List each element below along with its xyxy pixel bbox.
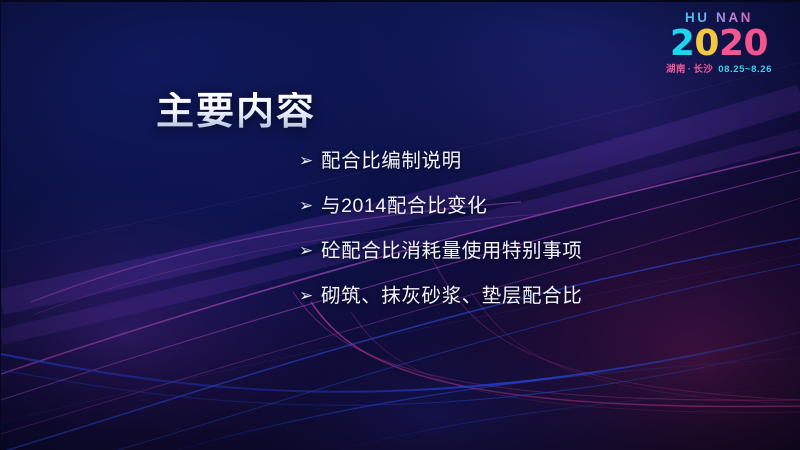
logo-city: 长沙 — [693, 64, 713, 75]
logo-year-digit-1: 2 — [670, 27, 695, 61]
presentation-slide: HU NAN 2020 湖南·长沙08.25~8.26 主要内容 ➢ 配合比编制… — [0, 0, 800, 450]
logo-dates: 08.25~8.26 — [718, 64, 772, 75]
page-title: 主要内容 — [156, 92, 316, 134]
logo-year: 2020 — [666, 27, 772, 61]
list-item-label: 砌筑、抹灰砂浆、垫层配合比 — [321, 279, 582, 308]
list-item: ➢ 砼配合比消耗量使用特别事项 — [299, 234, 739, 279]
list-item-label: 与2014配合比变化 — [321, 189, 487, 218]
logo-separator: · — [688, 64, 692, 75]
list-item: ➢ 砌筑、抹灰砂浆、垫层配合比 — [299, 279, 739, 324]
logo-year-digit-2: 0 — [694, 27, 719, 61]
event-logo: HU NAN 2020 湖南·长沙08.25~8.26 — [666, 11, 772, 74]
arrow-bullet-icon: ➢ — [299, 152, 321, 169]
logo-subtitle: 湖南·长沙08.25~8.26 — [666, 65, 772, 75]
list-item-label: 配合比编制说明 — [321, 144, 462, 173]
content-list: ➢ 配合比编制说明 ➢ 与2014配合比变化 ➢ 砼配合比消耗量使用特别事项 ➢… — [299, 144, 739, 324]
arrow-bullet-icon: ➢ — [299, 197, 321, 214]
arrow-bullet-icon: ➢ — [299, 287, 321, 304]
list-item-label: 砼配合比消耗量使用特别事项 — [321, 234, 582, 263]
list-item: ➢ 与2014配合比变化 — [299, 189, 739, 234]
arrow-bullet-icon: ➢ — [299, 242, 321, 259]
logo-year-digit-4: 0 — [744, 27, 769, 61]
logo-province: 湖南 — [666, 64, 686, 75]
logo-year-digit-3: 2 — [719, 27, 744, 61]
list-item: ➢ 配合比编制说明 — [299, 144, 739, 189]
